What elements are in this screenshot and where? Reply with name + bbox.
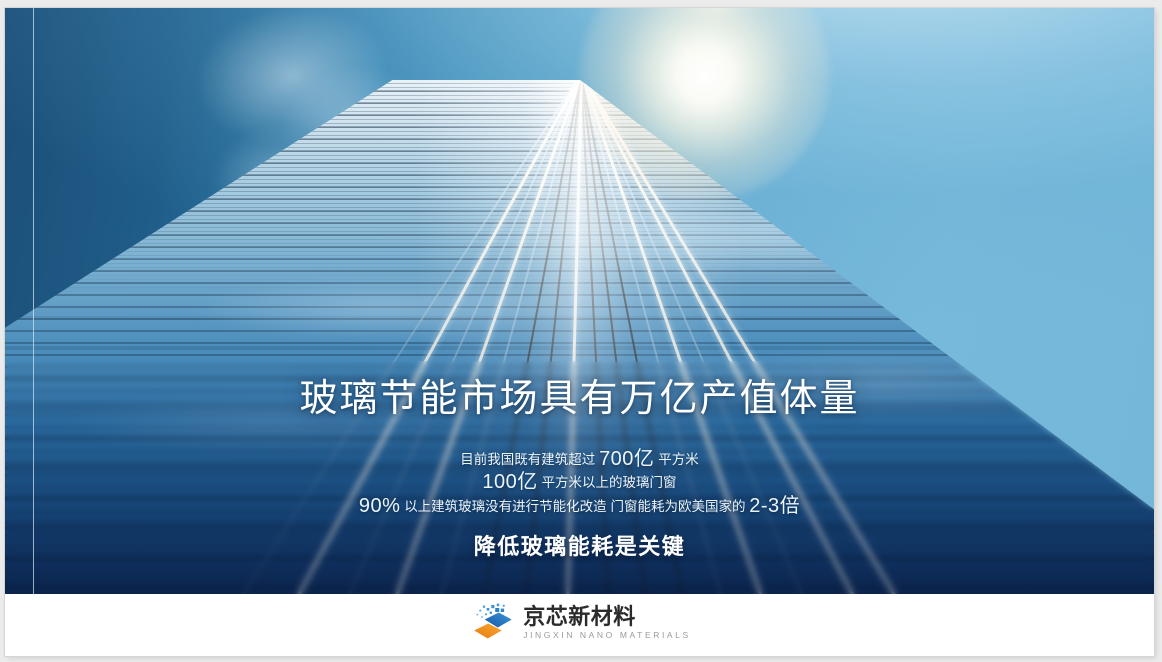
slide-canvas: 玻璃节能市场具有万亿产值体量 目前我国既有建筑超过 700亿 平方米 100亿 … [0, 0, 1162, 662]
facade-bottom-blur [5, 361, 1154, 594]
slide-guide-line [33, 8, 34, 594]
hero-photo-glass-skyscraper: 玻璃节能市场具有万亿产值体量 目前我国既有建筑超过 700亿 平方米 100亿 … [5, 8, 1154, 594]
logo-name-en: JINGXIN NANO MATERIALS [523, 630, 691, 641]
slide-frame: 玻璃节能市场具有万亿产值体量 目前我国既有建筑超过 700亿 平方米 100亿 … [5, 8, 1154, 656]
footer-bar: 京芯新材料 JINGXIN NANO MATERIALS [5, 594, 1154, 656]
pixel-rhombus-logo-icon [468, 603, 514, 643]
logo-name-cn: 京芯新材料 [523, 605, 691, 629]
company-logo: 京芯新材料 JINGXIN NANO MATERIALS [468, 603, 691, 643]
logo-text-group: 京芯新材料 JINGXIN NANO MATERIALS [523, 605, 691, 642]
